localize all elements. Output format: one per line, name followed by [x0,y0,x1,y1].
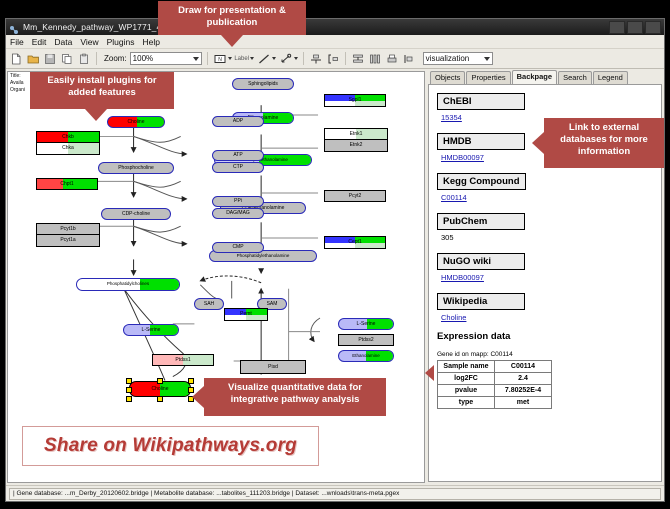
node-label: Sgpl1 [349,98,362,103]
zoom-label: Zoom: [104,54,127,63]
node-label: PPi [234,199,242,204]
node-label: CDP-choline [122,212,150,217]
toolbar: Zoom: 100% N Label [6,49,664,69]
window-titlebar: Mm_Kennedy_pathway_WP1771_45176.gpml [6,19,664,35]
db-header-pubchem: PubChem [437,213,525,230]
menu-data[interactable]: Data [54,37,72,47]
callout-plugins: Easily install plugins for added feature… [30,71,174,109]
tab-backpage[interactable]: Backpage [512,70,557,84]
open-folder-icon[interactable] [26,52,40,66]
stack-icon[interactable] [351,52,365,66]
gene-group-etnk: Etnk1 Etnk2 [324,128,388,152]
node-ppi[interactable]: PPi [212,196,264,207]
callout-link-databases: Link to external databases for more info… [544,118,664,168]
gene-sgpl1[interactable]: Sgpl1 [324,94,386,107]
anchor-icon [279,52,293,66]
new-file-icon[interactable] [9,52,23,66]
node-label: Pcyt1a [60,238,75,243]
toolbar-separator [207,52,208,65]
node-label: Pcyt1b [60,227,75,232]
visualization-value: visualization [426,54,470,63]
db-header-chebi: ChEBI [437,93,525,110]
table-cell-key: pvalue [438,385,495,397]
node-label: Phosphatidylcholines [107,282,149,287]
line-icon [257,52,271,66]
table-cell-value: 7.80252E-4 [495,385,552,397]
node-label: Phosphatidylethanolamine [237,254,290,259]
toolbar-separator [303,52,304,65]
node-dagmag[interactable]: DAG/MAG [212,208,264,219]
node-phosphocholine[interactable]: Phosphocholine [98,162,174,174]
node-choline-top[interactable]: Choline [107,116,165,128]
menu-view[interactable]: View [80,37,98,47]
node-label: Sphingolipids [248,82,278,87]
distribute-icon[interactable] [368,52,382,66]
node-label: Pisd [268,365,278,370]
node-label: Pcyt2 [349,194,362,199]
callout-link-arrow [532,132,544,154]
node-label: DAG/MAG [226,211,250,216]
node-sah[interactable]: SAH [194,298,224,310]
node-l-serine-right[interactable]: L-Serine [338,318,394,330]
callout-visualize: Visualize quantitative data for integrat… [204,378,386,416]
table-cell-key: Sample name [438,361,495,373]
selection-handle[interactable] [157,378,163,384]
db-link-wikipedia[interactable]: Choline [441,313,661,322]
gene-etnk1[interactable]: Etnk1 [325,129,387,140]
save-icon[interactable] [43,52,57,66]
line-tool[interactable] [257,52,276,66]
node-ctp[interactable]: CTP [212,162,264,173]
node-label: Chka [62,146,74,151]
share-banner: Share on Wikipathways.org [22,426,319,466]
table-row: log2FC 2.4 [438,373,552,385]
callout-plugins-arrow [85,109,107,121]
zoom-value: 100% [133,54,153,63]
node-label: ATP [233,153,242,158]
node-label: Cept1 [348,240,361,245]
node-label: Etnk2 [350,143,363,148]
table-row: pvalue 7.80252E-4 [438,385,552,397]
minimize-button[interactable] [609,21,625,34]
statusbar-text: | Gene database: ...m_Derby_20120602.bri… [9,488,661,500]
node-label: Etnk1 [350,132,363,137]
pathway-canvas[interactable]: Title: Availa Organi [7,71,425,483]
selection-handle[interactable] [126,378,132,384]
db-header-nugo-wiki: NuGO wiki [437,253,525,270]
expression-table: Sample name C00114 log2FC 2.4 pvalue 7.8… [437,360,552,409]
tab-objects[interactable]: Objects [430,71,465,84]
node-label: Ptdss1 [175,358,190,363]
visualization-combobox[interactable]: visualization [423,52,493,65]
gene-chpt1[interactable]: Chpt1 [36,178,98,190]
table-cell-value: met [495,397,552,409]
menu-edit[interactable]: Edit [32,37,47,47]
db-header-hmdb: HMDB [437,133,525,150]
table-row: Sample name C00114 [438,361,552,373]
node-label: Ethanolamine [352,354,380,359]
pathvisio-icon [9,22,19,32]
gene-group-chk: Chkb Chka [36,131,100,155]
gene-ptdss2[interactable]: Ptdss2 [338,334,394,346]
node-atp[interactable]: ATP [212,150,264,161]
node-label: SAM [267,302,278,307]
db-link-kegg-compound[interactable]: C00114 [441,193,661,202]
db-link-nugo-wiki[interactable]: HMDB00097 [441,273,661,282]
gene-group-pcyt1: Pcyt1b Pcyt1a [36,223,100,247]
print-icon[interactable] [385,52,399,66]
node-sphingolipids[interactable]: Sphingolipids [232,78,294,90]
table-row: type met [438,397,552,409]
menu-help[interactable]: Help [143,37,160,47]
table-cell-key: log2FC [438,373,495,385]
node-label: Choline [128,120,145,125]
selection-handle[interactable] [126,387,132,393]
pathvisio-window: Mm_Kennedy_pathway_WP1771_45176.gpml Fil… [5,18,665,502]
align-icon[interactable] [309,52,323,66]
tab-properties[interactable]: Properties [466,71,510,84]
label-tool[interactable]: Label [235,52,254,66]
datanode-tool[interactable]: N [213,52,232,66]
screenshot-root: Mm_Kennedy_pathway_WP1771_45176.gpml Fil… [0,0,670,509]
callout-expression-arrow [425,365,434,381]
node-label: L-Serine [142,328,161,333]
gene-pemt[interactable]: Pemt [224,308,268,321]
maximize-button[interactable] [627,21,643,34]
gene-pcyt2[interactable]: Pcyt2 [324,190,386,202]
svg-text:N: N [218,57,222,63]
table-cell-value: C00114 [495,361,552,373]
callout-draw: Draw for presentation & publication [158,1,306,35]
gene-chkb[interactable]: Chkb [37,132,99,143]
gene-chka[interactable]: Chka [37,143,99,154]
gene-pcyt1a[interactable]: Pcyt1a [37,235,99,246]
gene-pisd[interactable]: Pisd [240,360,306,374]
node-l-serine-left[interactable]: L-Serine [123,324,179,336]
chevron-down-icon [294,57,298,60]
node-adp[interactable]: ADP [212,116,264,127]
node-label: ADP [233,119,243,124]
node-cdp-choline[interactable]: CDP-choline [101,208,171,220]
node-label: Pemt [240,312,252,317]
node-label: CTP [233,165,243,170]
gene-etnk2[interactable]: Etnk2 [325,140,387,151]
gene-id-label: Gene id on mapp: C00114 [437,351,661,358]
node-label: CMP [232,245,243,250]
chevron-down-icon [272,57,276,60]
chevron-down-icon [193,57,199,61]
zoom-combobox[interactable]: 100% [130,52,202,65]
close-button[interactable] [645,21,661,34]
anchor-tool[interactable] [279,52,298,66]
toolbar-separator [345,52,346,65]
gene-cept1[interactable]: Cept1 [324,236,386,249]
node-phosphatidylcholines[interactable]: Phosphatidylcholines [76,278,180,291]
chevron-down-icon [228,57,232,60]
share-text: Share on Wikipathways.org [44,435,297,457]
tab-search[interactable]: Search [558,71,592,84]
db-value-pubchem: 305 [441,233,661,242]
table-cell-value: 2.4 [495,373,552,385]
menubar: File Edit Data View Plugins Help [6,35,664,49]
node-cmp[interactable]: CMP [212,242,264,253]
menu-plugins[interactable]: Plugins [107,37,135,47]
chevron-down-icon [250,57,254,60]
paste-icon[interactable] [77,52,91,66]
datanode-icon: N [213,52,227,66]
bracket-icon[interactable] [326,52,340,66]
selection-handle[interactable] [157,396,163,402]
chevron-down-icon [484,57,490,61]
node-ethanolamine-right[interactable]: Ethanolamine [338,350,394,362]
copy-icon[interactable] [60,52,74,66]
selection-handle[interactable] [188,378,194,384]
node-label: Phosphocholine [118,166,154,171]
table-cell-key: type [438,397,495,409]
order-icon[interactable] [402,52,416,66]
callout-visualize-arrow [192,386,204,408]
db-header-kegg-compound: Kegg Compound [437,173,526,190]
gene-pcyt1b[interactable]: Pcyt1b [37,224,99,235]
node-label: Chkb [62,135,74,140]
window-controls [609,21,661,34]
menu-file[interactable]: File [10,37,24,47]
db-header-wikipedia: Wikipedia [437,293,525,310]
gene-ptdss1[interactable]: Ptdss1 [152,354,214,366]
node-label: SAH [204,302,214,307]
node-label: Ptdss2 [358,338,373,343]
tab-legend[interactable]: Legend [593,71,628,84]
expression-data-title: Expression data [437,331,661,342]
callout-draw-arrow [221,35,243,47]
label-icon: Label [235,52,249,66]
side-tabs: Objects Properties Backpage Search Legen… [426,70,664,84]
statusbar: | Gene database: ...m_Derby_20120602.bri… [6,485,664,501]
node-label: Chpt1 [60,182,73,187]
node-label: L-Serine [357,322,376,327]
toolbar-separator [96,52,97,65]
selection-handle[interactable] [126,396,132,402]
node-label: Choline [152,387,169,392]
